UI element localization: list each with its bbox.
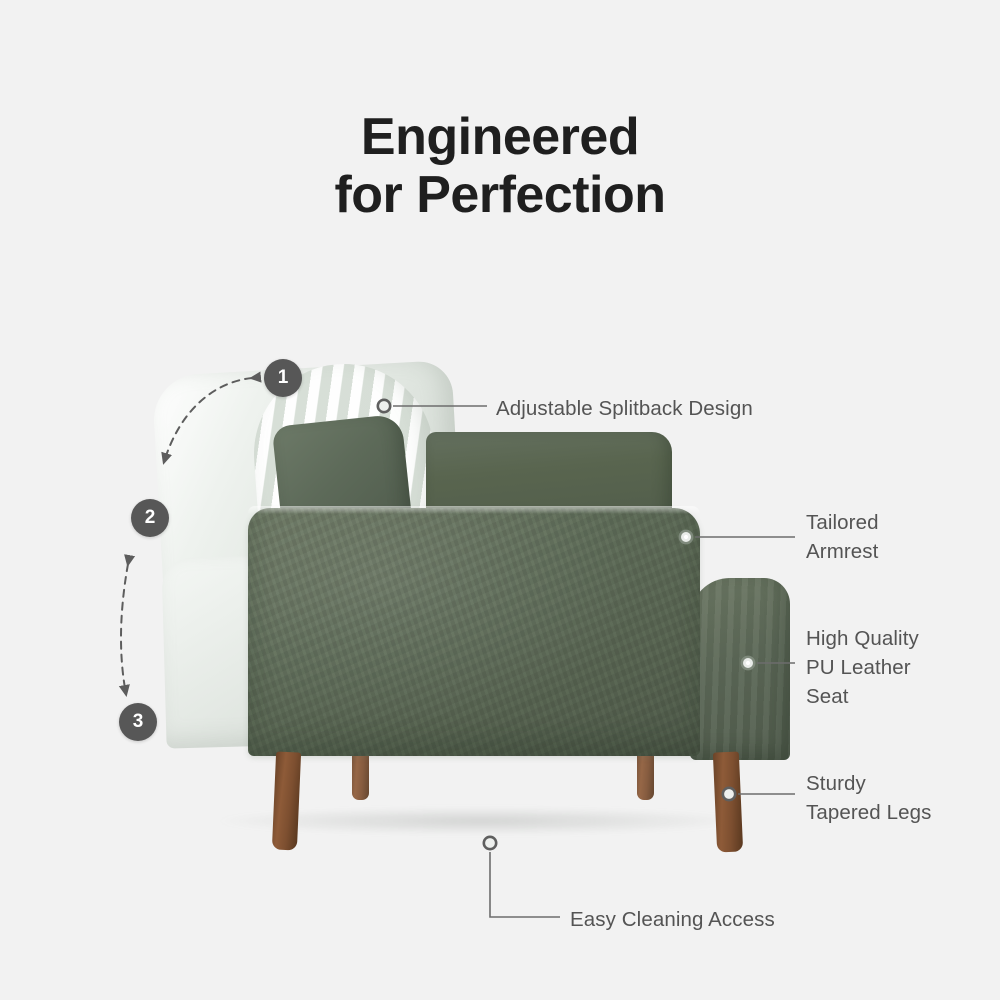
step-badge-1-label: 1 — [278, 367, 289, 389]
armrest-piping — [248, 506, 700, 514]
page-title: Engineered for Perfection — [0, 108, 1000, 224]
callout-label-pu-leather: High Quality PU Leather Seat — [806, 624, 919, 711]
tapered-leg-front-right — [713, 751, 743, 852]
callout-label-cleaning: Easy Cleaning Access — [570, 905, 775, 934]
step-badge-2-label: 2 — [145, 507, 156, 529]
headline-line-1: Engineered — [361, 108, 639, 166]
step-badge-3-label: 3 — [133, 711, 144, 733]
seat-cushion — [690, 578, 790, 760]
step-badge-2[interactable]: 2 — [131, 499, 169, 537]
tapered-leg-front-left — [272, 752, 301, 851]
step-badge-1[interactable]: 1 — [264, 359, 302, 397]
callout-label-legs: Sturdy Tapered Legs — [806, 769, 931, 827]
headline-line-2: for Perfection — [0, 166, 1000, 224]
callout-label-armrest: Tailored Armrest — [806, 508, 879, 566]
step-arrow-2-to-3 — [121, 564, 128, 694]
infographic-canvas: Engineered for Perfection 1 2 3 Adjustab — [0, 0, 1000, 1000]
armrest-side-panel — [248, 508, 700, 756]
callout-label-splitback: Adjustable Splitback Design — [496, 394, 753, 423]
step-badge-3[interactable]: 3 — [119, 703, 157, 741]
